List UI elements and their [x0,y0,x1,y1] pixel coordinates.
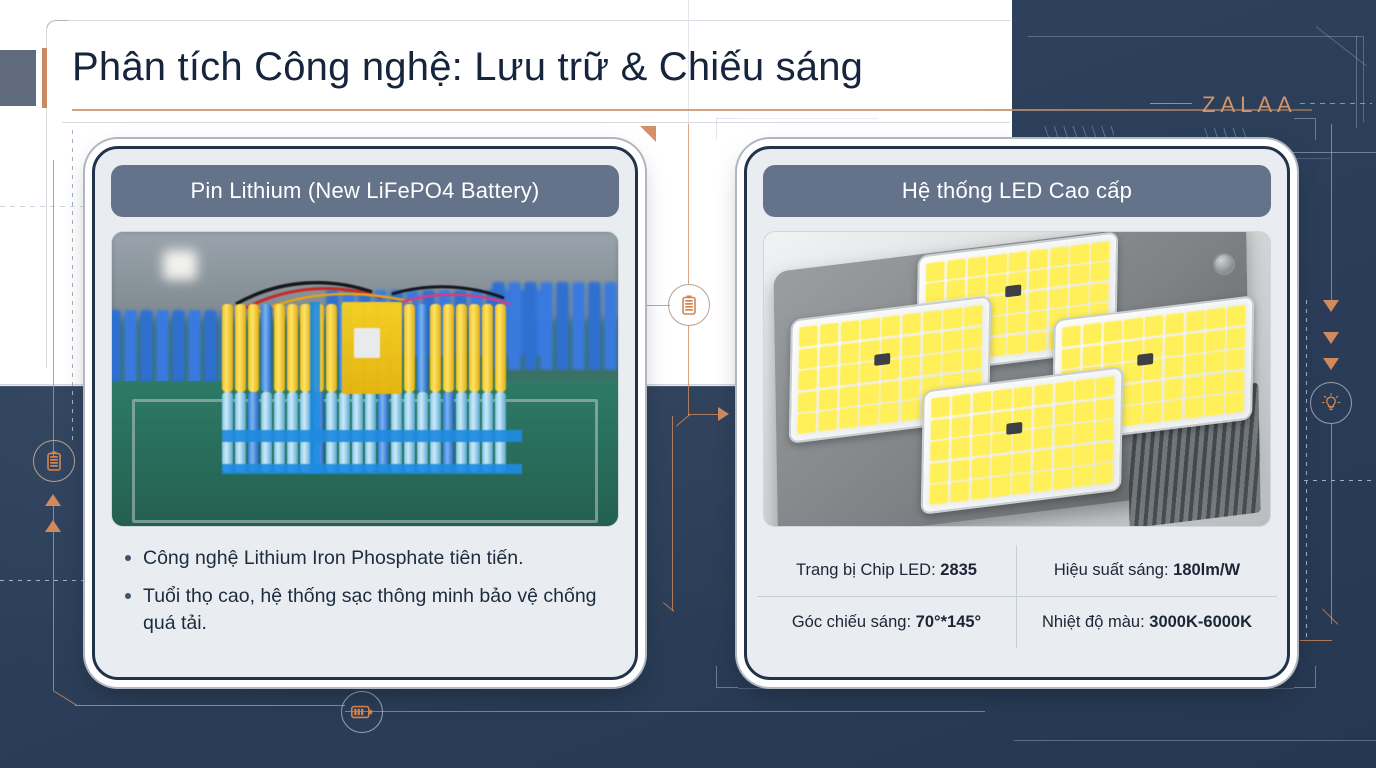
spec-label: Góc chiếu sáng: [792,613,911,631]
card-led-header: Hệ thống LED Cao cấp [763,165,1271,217]
card-led[interactable]: Hệ thống LED Cao cấp [744,146,1290,680]
center-battery-badge [668,284,710,326]
header-rule-under-title [62,122,1010,123]
header-corner-bracket [46,20,68,42]
spec-value: 70°*145° [916,613,982,631]
photo-strap-1 [222,430,522,442]
right-arrow-down-2 [1323,332,1339,344]
spec-value: 180lm/W [1173,561,1240,579]
corner-triangle-left [640,126,656,142]
tech-hatch-right [1200,128,1250,144]
center-circuit-vline-mid [688,326,689,416]
bottom-circuit-line-left [75,705,345,706]
lightbulb-icon [1320,392,1342,414]
left-arrow-up-2 [45,520,61,532]
bracket-bottom-left [716,666,738,688]
bracket-bottom-right [1294,666,1316,688]
tech-hline-bottom [1014,740,1376,741]
tech-hatch-left [1040,126,1114,142]
spec-label: Hiệu suất sáng: [1054,561,1169,579]
title-accent-block [0,50,36,106]
bracket-top-left [716,118,738,140]
bottom-battery-badge [341,691,383,733]
title-underline [72,109,1312,111]
list-item: Tuổi thọ cao, hệ thống sạc thông minh bả… [121,583,613,638]
photo-led-driver [1006,421,1022,434]
page-title: Phân tích Công nghệ: Lưu trữ & Chiếu sán… [72,45,863,90]
bracket-line-top [738,118,878,119]
spec-color-temperature: Nhiệt độ màu: 3000K-6000K [1017,597,1277,648]
left-battery-badge [33,440,75,482]
spec-value: 3000K-6000K [1149,613,1252,631]
right-bulb-badge [1310,382,1352,424]
photo-label [354,328,380,358]
card-led-photo [763,231,1271,527]
spec-beam-angle: Góc chiếu sáng: 70°*145° [757,597,1017,648]
center-circuit-hline-left [640,305,670,306]
header-rule-top [62,20,1010,21]
spec-value: 2835 [940,561,977,579]
slide-canvas: Phân tích Công nghệ: Lưu trữ & Chiếu sán… [0,0,1376,768]
brand-logo: ZALAA [1202,92,1297,118]
brand-line-right [1300,103,1372,104]
bracket-line-bottom [738,688,1294,689]
tech-vline-right [1356,36,1357,128]
right-arrow-down-3 [1323,358,1339,370]
photo-battery-pack [222,288,522,474]
center-arrow-right [718,407,729,421]
right-circuit-vline-bottom [1331,424,1332,624]
center-circuit-vline-top [688,124,689,284]
card-battery[interactable]: Pin Lithium (New LiFePO4 Battery) [92,146,638,680]
center-circuit-hline-right [688,414,720,415]
photo-strap-2 [222,464,522,474]
photo-mount-knob [1213,253,1235,275]
photo-led-chips [930,376,1115,505]
right-circuit-hline [1300,640,1332,641]
battery-icon [47,451,61,471]
photo-led-module-4 [921,366,1124,515]
right-circuit-vline-top [1331,124,1332,304]
card-battery-bullets: Công nghệ Lithium Iron Phosphate tiên ti… [121,545,613,638]
left-arrow-up-1 [45,494,61,506]
bracket-top-right [1294,118,1316,140]
photo-strap-3 [310,302,320,474]
photo-led-driver [1005,284,1021,297]
spec-luminous-efficacy: Hiệu suất sáng: 180lm/W [1017,545,1277,597]
card-battery-photo [111,231,619,527]
spec-chip-led: Trang bị Chip LED: 2835 [757,545,1017,597]
battery-icon [682,295,696,315]
right-dotted-vline [1306,300,1307,640]
center-circuit-vline-bottom [672,416,673,611]
left-dotted-vline [72,130,73,440]
card-led-specs: Trang bị Chip LED: 2835 Hiệu suất sáng: … [757,545,1277,648]
bottom-circuit-line [345,711,985,712]
left-circuit-vline [53,160,54,456]
list-item: Công nghệ Lithium Iron Phosphate tiên ti… [121,545,613,573]
right-arrow-down-1 [1323,300,1339,312]
card-battery-header: Pin Lithium (New LiFePO4 Battery) [111,165,619,217]
spec-label: Nhiệt độ màu: [1042,613,1145,631]
battery-horizontal-icon [351,705,373,719]
title-accent-bar [42,48,47,108]
brand-line-left [1150,103,1192,104]
spec-label: Trang bị Chip LED: [796,561,936,579]
